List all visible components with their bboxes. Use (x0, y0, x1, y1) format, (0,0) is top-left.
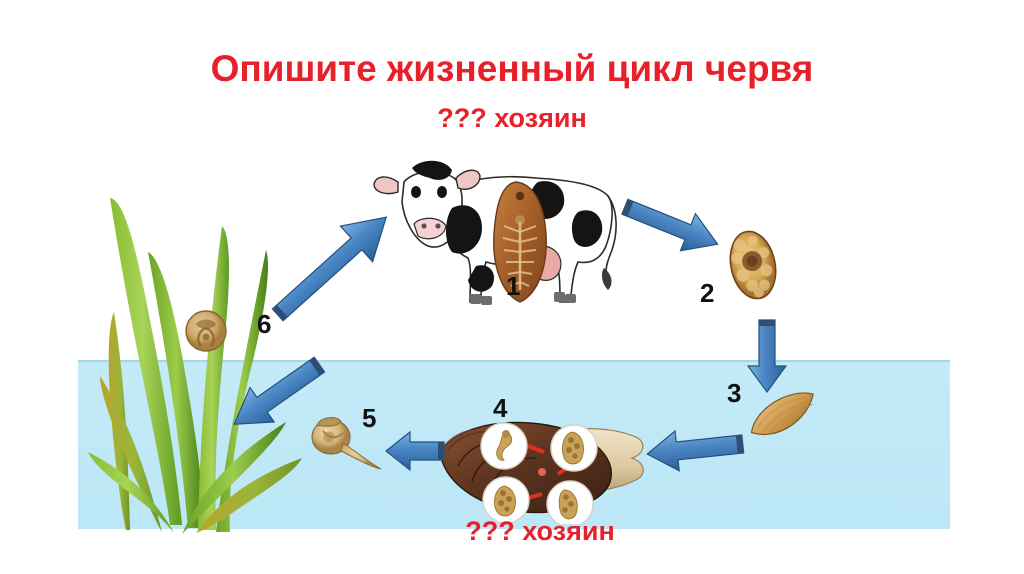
host-label-top: ??? хозяин (0, 103, 1024, 134)
miracidium-icon (742, 388, 826, 446)
stage-number-4: 4 (493, 393, 507, 424)
arrow-cercaria-to-grass (219, 354, 333, 436)
snail-intermediate-host (432, 404, 652, 524)
stage-number-1: 1 (506, 271, 520, 302)
stage-number-6: 6 (257, 309, 271, 340)
egg-icon (724, 227, 782, 303)
host-label-bottom: ??? хозяин (340, 516, 740, 547)
arrow-cow-to-egg (616, 196, 728, 262)
page-title: Опишите жизненный цикл червя (0, 48, 1024, 90)
arrow-egg-to-miracidium (745, 318, 789, 396)
stage-number-2: 2 (700, 278, 714, 309)
slide-canvas: Опишите жизненный цикл червя ??? хозяин … (0, 0, 1024, 574)
arrow-snail-to-cercaria (382, 428, 448, 474)
arrow-miracidium-to-snail (643, 424, 747, 474)
arrow-grass-to-cow (253, 198, 411, 334)
stage-number-5: 5 (362, 403, 376, 434)
stage-number-3: 3 (727, 378, 741, 409)
adolescaria-cyst-icon (184, 309, 228, 353)
